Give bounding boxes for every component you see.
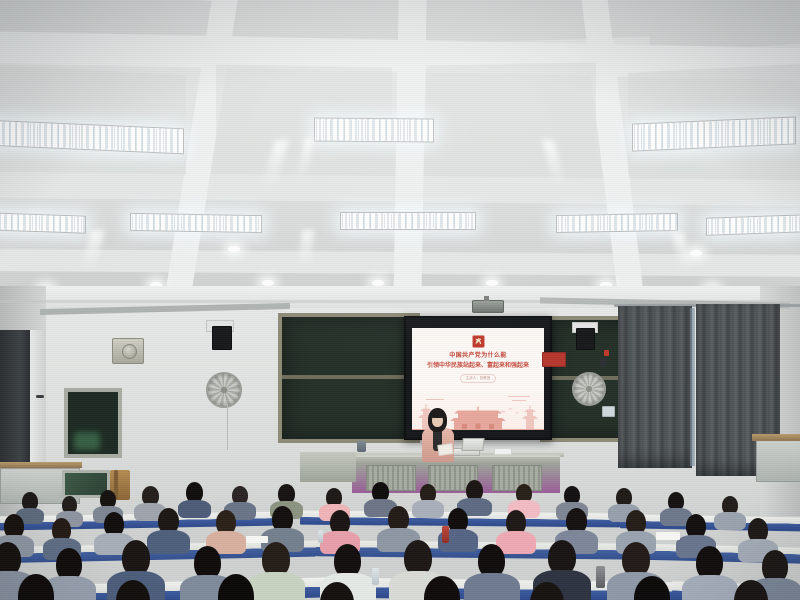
student-shoulders	[178, 500, 211, 518]
student-shoulders	[247, 572, 305, 600]
door-handle-icon[interactable]	[36, 395, 44, 398]
coffered-ceiling	[0, 0, 800, 300]
door-left	[30, 330, 46, 480]
student-shoulders	[147, 530, 190, 554]
student-shoulders	[412, 500, 444, 518]
wood-trim-right	[752, 434, 800, 441]
fluorescent-troffer	[340, 212, 476, 230]
wall-speaker-left	[112, 338, 144, 364]
wall-monitor-left	[212, 326, 232, 350]
ceiling-coffer	[426, 63, 596, 170]
speaker-cone-icon	[122, 344, 137, 359]
cloud-decoration	[508, 396, 530, 397]
paper-stack[interactable]	[494, 448, 512, 455]
fluorescent-troffer	[706, 214, 800, 235]
ceiling-projector	[472, 300, 504, 313]
slide-title: 中国共产党为什么能	[449, 353, 507, 361]
ceiling-beam	[393, 0, 426, 300]
seated-students	[0, 470, 800, 600]
fire-alarm-icon	[604, 350, 609, 356]
notebook[interactable]	[246, 536, 268, 543]
wall-switch-box-right[interactable]	[600, 358, 607, 367]
thermos-flask[interactable]	[596, 566, 605, 588]
downlight	[690, 250, 702, 256]
wall-outlet-right[interactable]	[602, 406, 615, 417]
downlight	[228, 246, 240, 252]
mug-on-podium[interactable]	[357, 441, 366, 452]
blackboard-left	[278, 313, 420, 443]
emergency-sign	[542, 352, 566, 367]
blackboard-divider	[282, 375, 416, 379]
window-curtain-right-1[interactable]	[618, 306, 692, 468]
wall-window-left	[64, 388, 122, 458]
presenter	[418, 408, 458, 460]
doorway-curtain-left	[0, 330, 34, 470]
water-bottle[interactable]	[318, 530, 323, 543]
desk-row	[620, 514, 800, 531]
slide-byline: 主讲人：张教授	[460, 374, 497, 383]
fluorescent-troffer	[314, 117, 434, 142]
wall-fan-right	[572, 372, 606, 406]
window-glow	[74, 432, 100, 450]
cloud-decoration	[426, 399, 444, 400]
laptop-lid[interactable]	[461, 438, 484, 451]
fluorescent-troffer	[556, 213, 678, 233]
slide-subtitle: 引领中华民族站起来、富起来和强起来	[427, 363, 529, 371]
fluorescent-troffer	[0, 212, 86, 233]
student-shoulders	[464, 573, 520, 600]
ceiling-coffer	[452, 0, 652, 43]
fluorescent-troffer	[130, 213, 262, 233]
student-shoulders	[714, 512, 746, 530]
cloud-decoration	[512, 400, 526, 401]
red-thermos[interactable]	[442, 526, 449, 543]
notebook[interactable]	[656, 532, 680, 540]
fan-pull-cord-left[interactable]	[227, 404, 228, 450]
presenter-held-papers	[437, 443, 453, 456]
water-bottle[interactable]	[372, 568, 379, 585]
student-shoulders	[682, 575, 738, 600]
communist-party-hammer-sickle-emblem	[472, 335, 485, 348]
wall-monitor-right	[576, 328, 595, 350]
presenter-fringe	[430, 411, 445, 418]
curtain-gap	[690, 308, 695, 466]
lecture-hall-screenshot: 中国共产党为什么能 引领中华民族站起来、富起来和强起来 主讲人：张教授	[0, 0, 800, 600]
ceiling-coffer	[0, 65, 186, 175]
wall-fan-left	[206, 372, 242, 408]
projector-mount	[484, 296, 489, 301]
